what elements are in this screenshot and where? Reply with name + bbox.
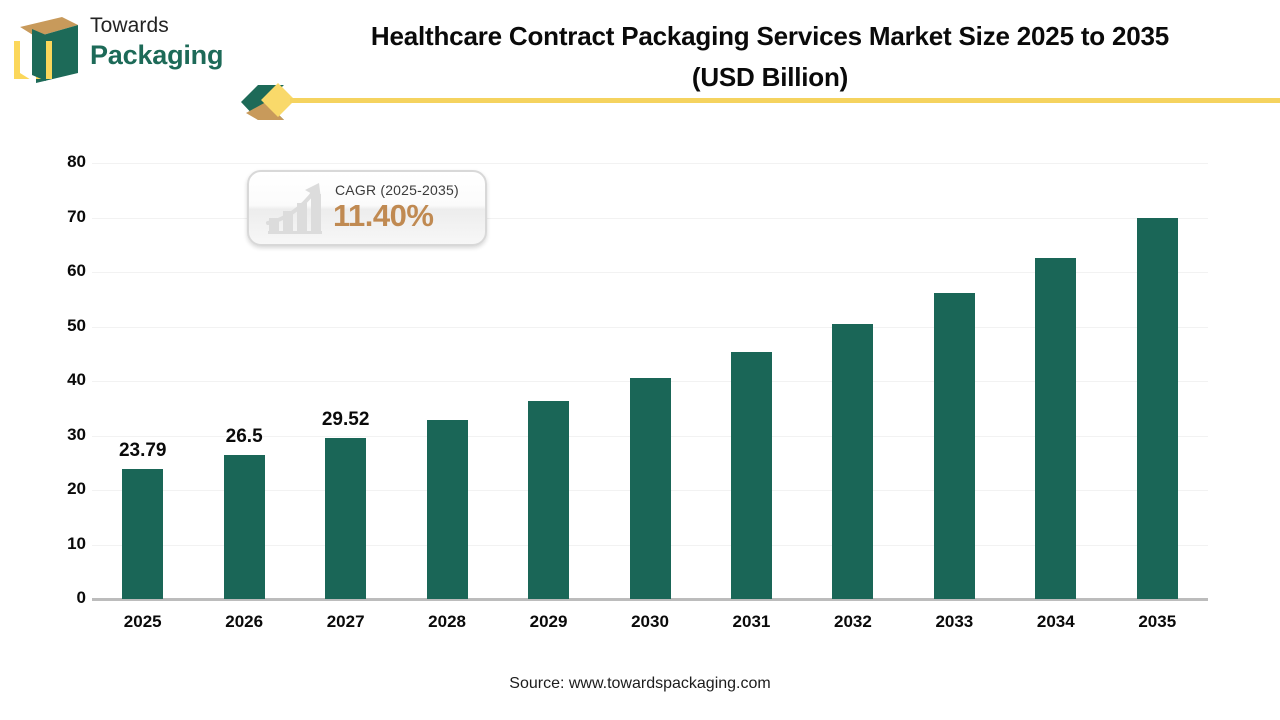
x-axis-tick-label-2035: 2035 (1107, 612, 1207, 632)
y-axis-tick-label: 60 (46, 261, 86, 281)
y-axis-tick-label: 80 (46, 152, 86, 172)
bar-2035[interactable] (1137, 218, 1178, 600)
bar-2025[interactable] (122, 469, 163, 599)
x-axis-tick-label-2027: 2027 (296, 612, 396, 632)
y-axis-tick-label: 50 (46, 316, 86, 336)
bar-2026[interactable] (224, 455, 265, 599)
y-axis-tick-label: 20 (46, 479, 86, 499)
y-axis-tick-label: 40 (46, 370, 86, 390)
x-axis-tick-label-2029: 2029 (499, 612, 599, 632)
y-axis-tick-label: 10 (46, 534, 86, 554)
x-axis-tick-label-2030: 2030 (600, 612, 700, 632)
growth-bar-chart-arrow-icon (263, 180, 331, 236)
x-axis-tick-label-2032: 2032 (803, 612, 903, 632)
bar-value-label-2027: 29.52 (291, 409, 401, 431)
bar-2034[interactable] (1035, 258, 1076, 599)
bar-2028[interactable] (427, 420, 468, 599)
cagr-badge: CAGR (2025-2035) 11.40% (247, 170, 487, 246)
x-axis-tick-label-2028: 2028 (397, 612, 497, 632)
bar-value-label-2026: 26.5 (189, 426, 299, 448)
bar-2029[interactable] (528, 401, 569, 599)
x-axis-tick-label-2033: 2033 (904, 612, 1004, 632)
gridline (92, 163, 1208, 164)
bar-2032[interactable] (832, 324, 873, 599)
bar-2031[interactable] (731, 352, 772, 599)
source-note: Source: www.towardspackaging.com (0, 675, 1280, 693)
y-axis-tick-label: 0 (46, 588, 86, 608)
cagr-label: CAGR (2025-2035) (335, 182, 459, 198)
bar-value-label-2025: 23.79 (88, 440, 198, 462)
x-axis-tick-label-2031: 2031 (701, 612, 801, 632)
x-axis-tick-label-2025: 2025 (93, 612, 193, 632)
bar-2033[interactable] (934, 293, 975, 599)
x-axis-tick-label-2034: 2034 (1006, 612, 1106, 632)
x-axis-tick-label-2026: 2026 (194, 612, 294, 632)
bar-chart: 80706050403020100 23.7926.529.52 2025202… (0, 0, 1280, 720)
bar-2027[interactable] (325, 438, 366, 599)
cagr-value: 11.40% (333, 198, 433, 234)
bar-2030[interactable] (630, 378, 671, 599)
y-axis-tick-label: 30 (46, 425, 86, 445)
y-axis-tick-label: 70 (46, 207, 86, 227)
